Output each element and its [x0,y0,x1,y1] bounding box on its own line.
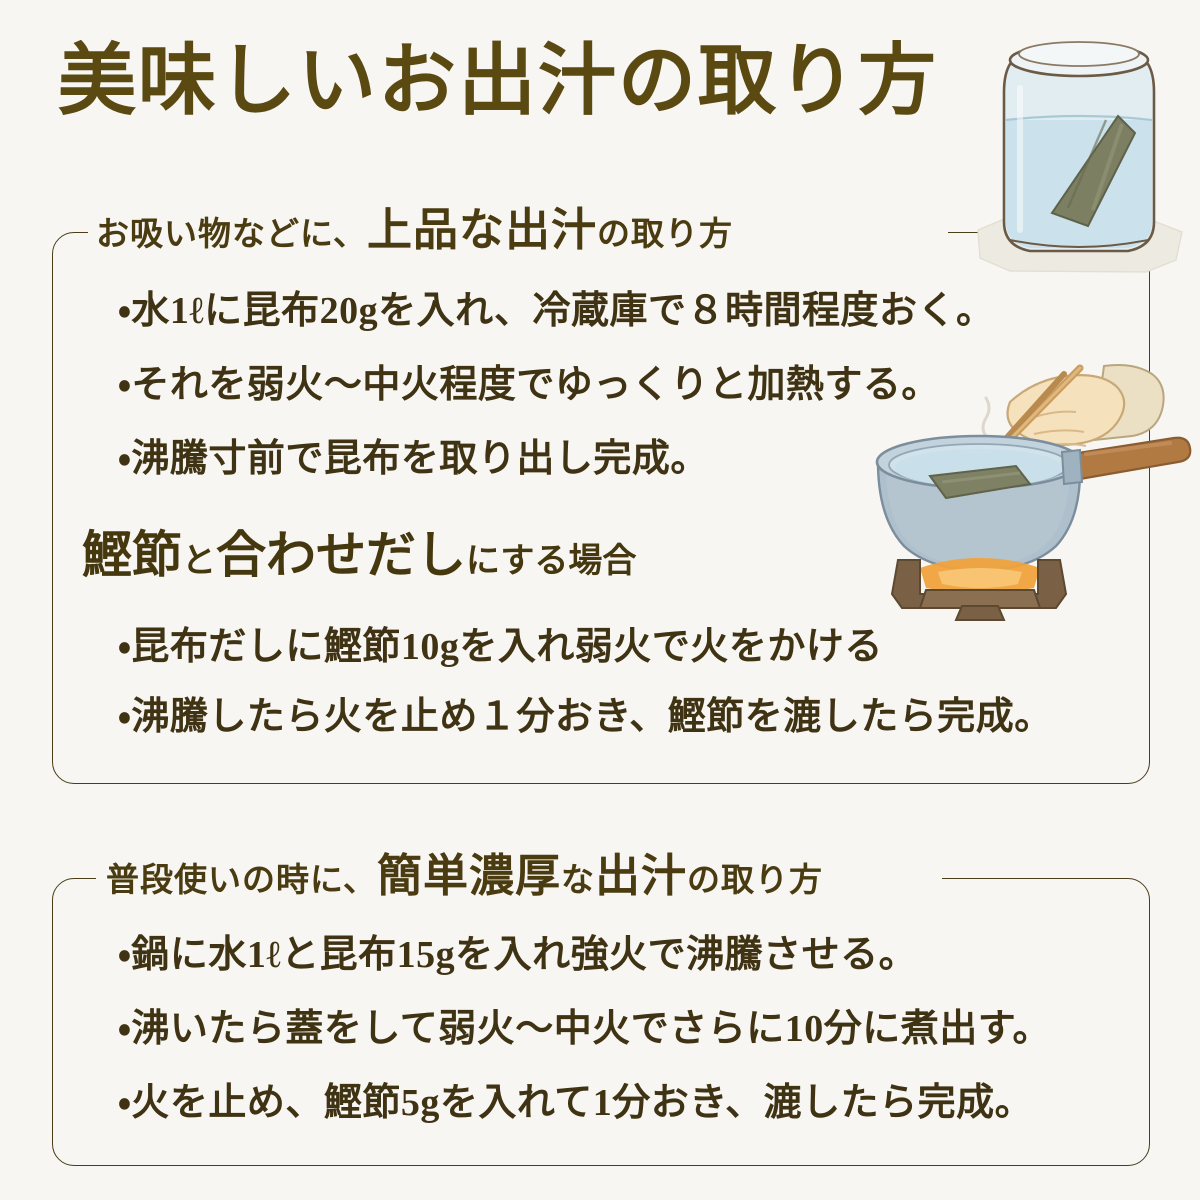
list-item: ・水1ℓに昆布20gを入れ、冷蔵庫で８時間程度おく。 [118,292,995,330]
list-item: ・沸騰したら火を止め１分おき、鰹節を漉したら完成。 [118,698,1053,736]
section-heading-emphasis: 上品な出汁 [367,205,597,255]
subsection-heading-part3: 合わせだし [216,527,466,583]
subsection-heading-part1: 鰹節 [82,527,182,583]
page-title: 美味しいお出汁の取り方 [58,42,938,120]
section-heading-emphasis: 簡単濃厚 [377,851,561,901]
list-item: ・沸騰寸前で昆布を取り出し完成。 [118,440,709,478]
section-heading-lead: 普段使いの時に、 [106,863,377,899]
list-item: ・昆布だしに鰹節10gを入れ弱火で火をかける [118,628,883,666]
section-heading-tail: の取り方 [597,217,733,253]
subsection-heading-katsuobushi: 鰹節と合わせだしにする場合 [82,530,636,580]
list-item: ・鍋に水1ℓと昆布15gを入れ強火で沸騰させる。 [118,936,917,974]
section-heading-easy-rich-dashi: 普段使いの時に、簡単濃厚な出汁の取り方 [106,854,823,899]
section-heading-mid: な [561,863,595,899]
list-item: ・それを弱火〜中火程度でゆっくりと加熱する。 [118,366,940,404]
glass-jar-with-kombu-illustration [960,8,1195,283]
infographic-page: 美味しいお出汁の取り方 お吸い物などに、上品な出汁の取り方 ・水1ℓに昆布20g… [0,0,1200,1200]
section-heading-emphasis-2: 出汁 [595,851,687,901]
list-item: ・沸いたら蓋をして弱火〜中火でさらに10分に煮出す。 [118,1010,1051,1048]
subsection-heading-part2: と [182,543,216,580]
list-item: ・火を止め、鰹節5gを入れて1分おき、漉したら完成。 [118,1084,1033,1122]
section-heading-lead: お吸い物などに、 [96,217,367,253]
section-heading-tail: の取り方 [687,863,823,899]
section-heading-elegant-dashi: お吸い物などに、上品な出汁の取り方 [96,208,733,253]
subsection-heading-part4: にする場合 [466,543,636,580]
saucepan-with-kombu-illustration [858,358,1196,628]
